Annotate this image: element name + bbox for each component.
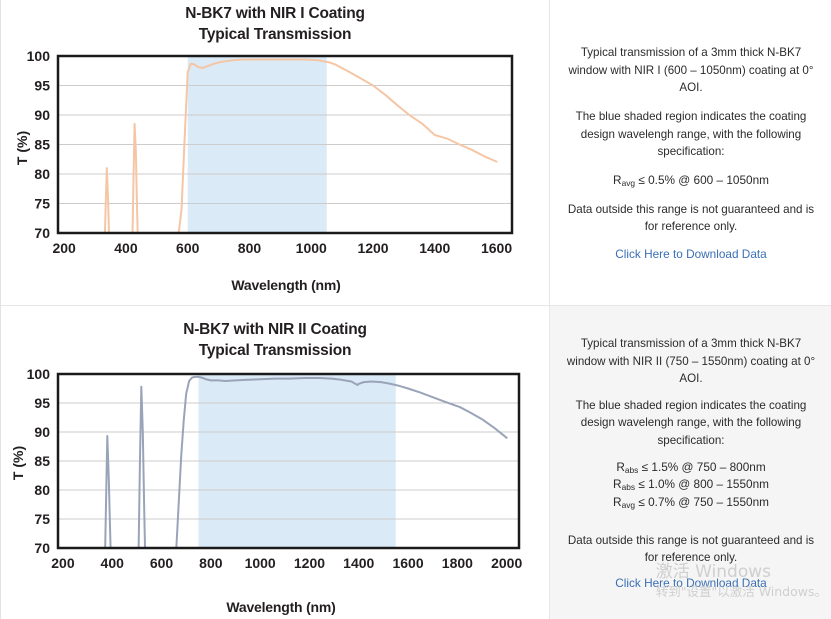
transmission-plot-nir-i: 7075808590951002004006008001000120014001… — [1, 44, 549, 254]
info-panel-nir-ii: Typical transmission of a 3mm thick N-BK… — [550, 306, 831, 619]
spec-block-nir-i: Ravg ≤ 0.5% @ 600 – 1050nm — [613, 172, 769, 190]
svg-text:75: 75 — [34, 511, 50, 527]
svg-text:400: 400 — [114, 240, 138, 254]
chart-title-line2: Typical Transmission — [1, 341, 549, 362]
x-axis-label-nir-i: Wavelength (nm) — [56, 277, 516, 293]
spec-line: Rabs ≤ 1.0% @ 800 – 1550nm — [613, 476, 769, 494]
svg-text:1200: 1200 — [294, 555, 325, 569]
svg-text:95: 95 — [34, 78, 50, 94]
svg-text:200: 200 — [52, 240, 76, 254]
info-panel-nir-i: Typical transmission of a 3mm thick N-BK… — [550, 0, 831, 305]
info-paragraph-2: The blue shaded region indicates the coa… — [564, 108, 818, 161]
chart-title-nir-i: N-BK7 with NIR I Coating Typical Transmi… — [1, 4, 549, 46]
svg-text:95: 95 — [34, 395, 50, 411]
svg-text:90: 90 — [34, 107, 50, 123]
svg-text:70: 70 — [34, 225, 50, 241]
spec-line: Ravg ≤ 0.5% @ 600 – 1050nm — [613, 172, 769, 190]
chart-title-nir-ii: N-BK7 with NIR II Coating Typical Transm… — [1, 320, 549, 362]
svg-text:85: 85 — [34, 137, 50, 153]
chart-title-line1: N-BK7 with NIR I Coating — [1, 4, 549, 25]
svg-text:1800: 1800 — [442, 555, 473, 569]
svg-text:90: 90 — [34, 424, 50, 440]
svg-text:1400: 1400 — [343, 555, 374, 569]
svg-text:600: 600 — [176, 240, 200, 254]
x-axis-label-nir-ii: Wavelength (nm) — [41, 599, 521, 615]
y-axis-label-nir-i: T (%) — [14, 123, 30, 173]
svg-text:80: 80 — [34, 166, 50, 182]
svg-text:75: 75 — [34, 196, 50, 212]
svg-text:80: 80 — [34, 482, 50, 498]
plot-nir-ii: 7075808590951002004006008001000120014001… — [1, 363, 549, 569]
svg-text:1600: 1600 — [481, 240, 512, 254]
spec-line: Rabs ≤ 1.5% @ 750 – 800nm — [613, 459, 769, 477]
page-root: N-BK7 with NIR I Coating Typical Transmi… — [0, 0, 831, 619]
info-paragraph-3: Data outside this range is not guarantee… — [564, 201, 818, 236]
svg-text:800: 800 — [238, 240, 262, 254]
chart-title-line2: Typical Transmission — [1, 25, 549, 46]
info-paragraph-2: The blue shaded region indicates the coa… — [564, 397, 818, 450]
svg-text:600: 600 — [150, 555, 174, 569]
plot-nir-i: 7075808590951002004006008001000120014001… — [1, 44, 549, 254]
svg-text:1600: 1600 — [392, 555, 423, 569]
svg-text:1200: 1200 — [357, 240, 388, 254]
download-data-link-nir-ii[interactable]: Click Here to Download Data — [615, 576, 766, 590]
svg-text:2000: 2000 — [491, 555, 522, 569]
svg-text:1000: 1000 — [296, 240, 327, 254]
chart-cell-nir-i: N-BK7 with NIR I Coating Typical Transmi… — [1, 0, 549, 305]
chart-title-line1: N-BK7 with NIR II Coating — [1, 320, 549, 341]
spec-block-nir-ii: Rabs ≤ 1.5% @ 750 – 800nm Rabs ≤ 1.0% @ … — [613, 459, 769, 512]
svg-text:1400: 1400 — [419, 240, 450, 254]
info-paragraph-1: Typical transmission of a 3mm thick N-BK… — [564, 44, 818, 97]
svg-text:85: 85 — [34, 453, 50, 469]
svg-text:800: 800 — [199, 555, 223, 569]
info-paragraph-1: Typical transmission of a 3mm thick N-BK… — [564, 335, 818, 388]
spec-line: Ravg ≤ 0.7% @ 750 – 1550nm — [613, 494, 769, 512]
chart-row-nir-i: N-BK7 with NIR I Coating Typical Transmi… — [1, 0, 831, 305]
info-paragraph-3: Data outside this range is not guarantee… — [564, 532, 818, 567]
y-axis-label-nir-ii: T (%) — [10, 438, 26, 488]
svg-text:1000: 1000 — [245, 555, 276, 569]
svg-text:100: 100 — [27, 366, 51, 382]
svg-text:100: 100 — [27, 48, 51, 64]
svg-text:200: 200 — [51, 555, 75, 569]
svg-text:400: 400 — [101, 555, 125, 569]
svg-text:70: 70 — [34, 540, 50, 556]
transmission-plot-nir-ii: 7075808590951002004006008001000120014001… — [1, 363, 549, 569]
download-data-link-nir-i[interactable]: Click Here to Download Data — [615, 247, 766, 261]
